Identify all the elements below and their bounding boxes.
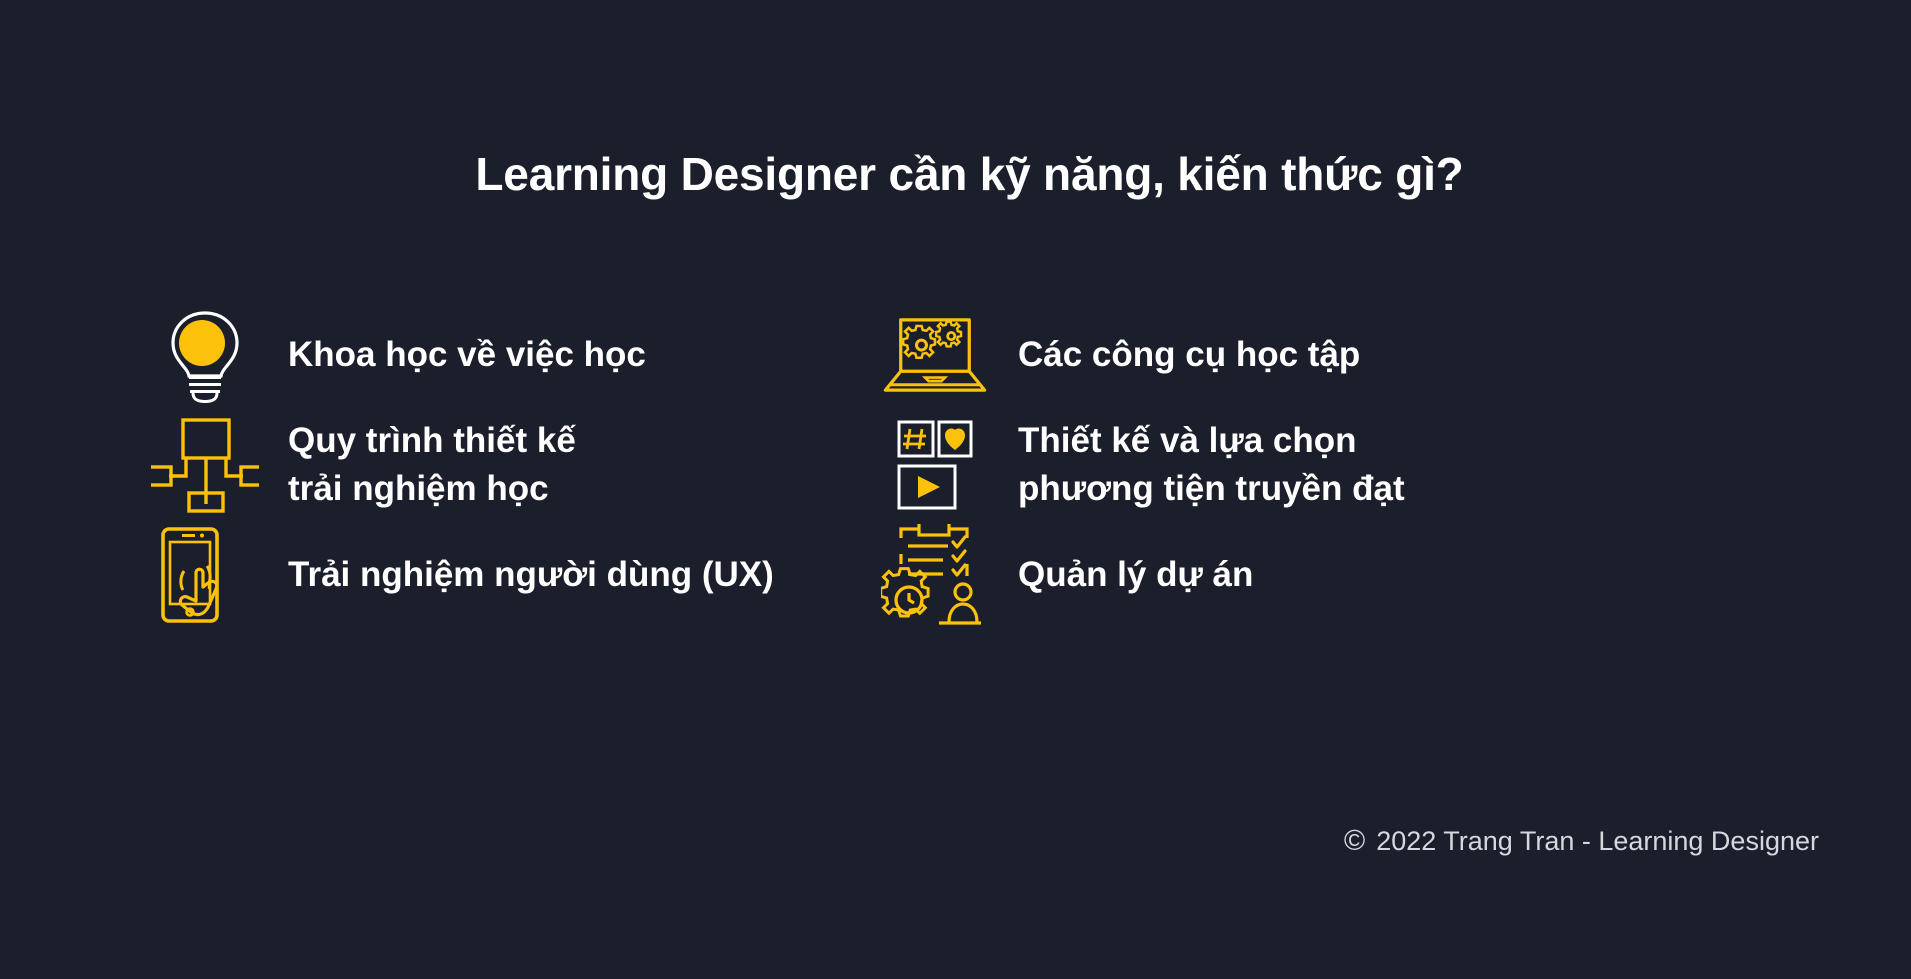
left-column: Khoa học về việc học Quy trình thiết kế …: [0, 300, 860, 422]
media-tiles-icon: [880, 410, 990, 520]
list-item-label: Trải nghiệm người dùng (UX): [288, 552, 774, 598]
skills-grid: Khoa học về việc học Quy trình thiết kế …: [0, 300, 1911, 666]
list-item[interactable]: Quản lý dự án: [860, 520, 1911, 630]
list-item-label: Thiết kế và lựa chọn phương tiện truyền …: [1018, 417, 1405, 513]
page-title: Learning Designer cần kỹ năng, kiến thức…: [0, 148, 1911, 201]
slide-canvas: Learning Designer cần kỹ năng, kiến thức…: [0, 0, 1911, 979]
list-item[interactable]: Các công cụ học tập: [860, 300, 1911, 410]
list-item[interactable]: Thiết kế và lựa chọn phương tiện truyền …: [860, 410, 1911, 520]
list-item-label: Quản lý dự án: [1018, 552, 1253, 598]
list-item-label: Quy trình thiết kế trải nghiệm học: [288, 417, 576, 513]
laptop-gears-icon: [880, 300, 990, 410]
smartphone-tap-icon: [150, 520, 260, 630]
list-item[interactable]: Trải nghiệm người dùng (UX): [0, 520, 860, 630]
flowchart-icon: [150, 410, 260, 520]
footer-copyright: © 2022 Trang Tran - Learning Designer: [1344, 826, 1819, 857]
copyright-icon: ©: [1344, 827, 1365, 856]
list-item[interactable]: Quy trình thiết kế trải nghiệm học: [0, 410, 860, 520]
list-item[interactable]: Khoa học về việc học: [0, 300, 860, 410]
list-item-label: Các công cụ học tập: [1018, 332, 1360, 378]
list-item-label: Khoa học về việc học: [288, 332, 646, 378]
lightbulb-icon: [150, 300, 260, 410]
right-column: Các công cụ học tập: [860, 300, 1911, 422]
footer-text: 2022 Trang Tran - Learning Designer: [1376, 826, 1819, 857]
project-management-icon: [880, 520, 990, 630]
